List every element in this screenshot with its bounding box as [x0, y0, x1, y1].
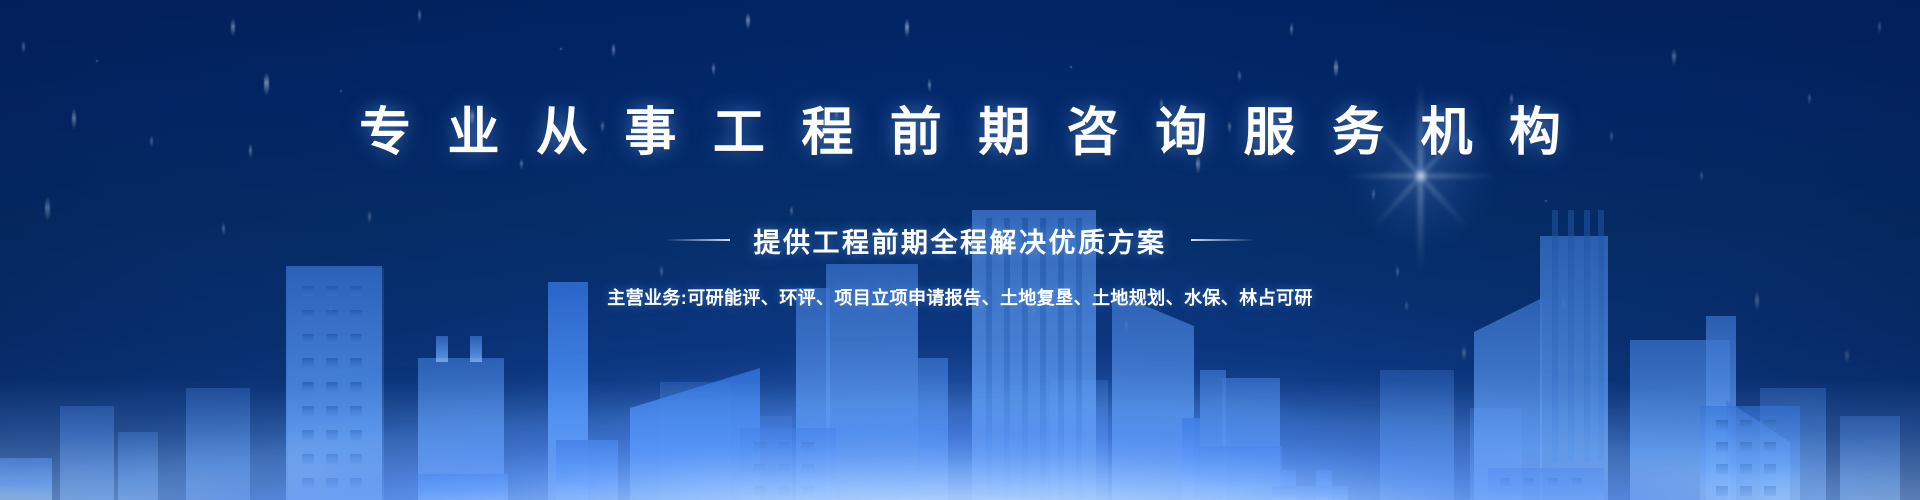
sky-gradient-background	[0, 0, 1920, 500]
hero-banner: 专 业 从 事 工 程 前 期 咨 询 服 务 机 构 提供工程前期全程解决优质…	[0, 0, 1920, 500]
